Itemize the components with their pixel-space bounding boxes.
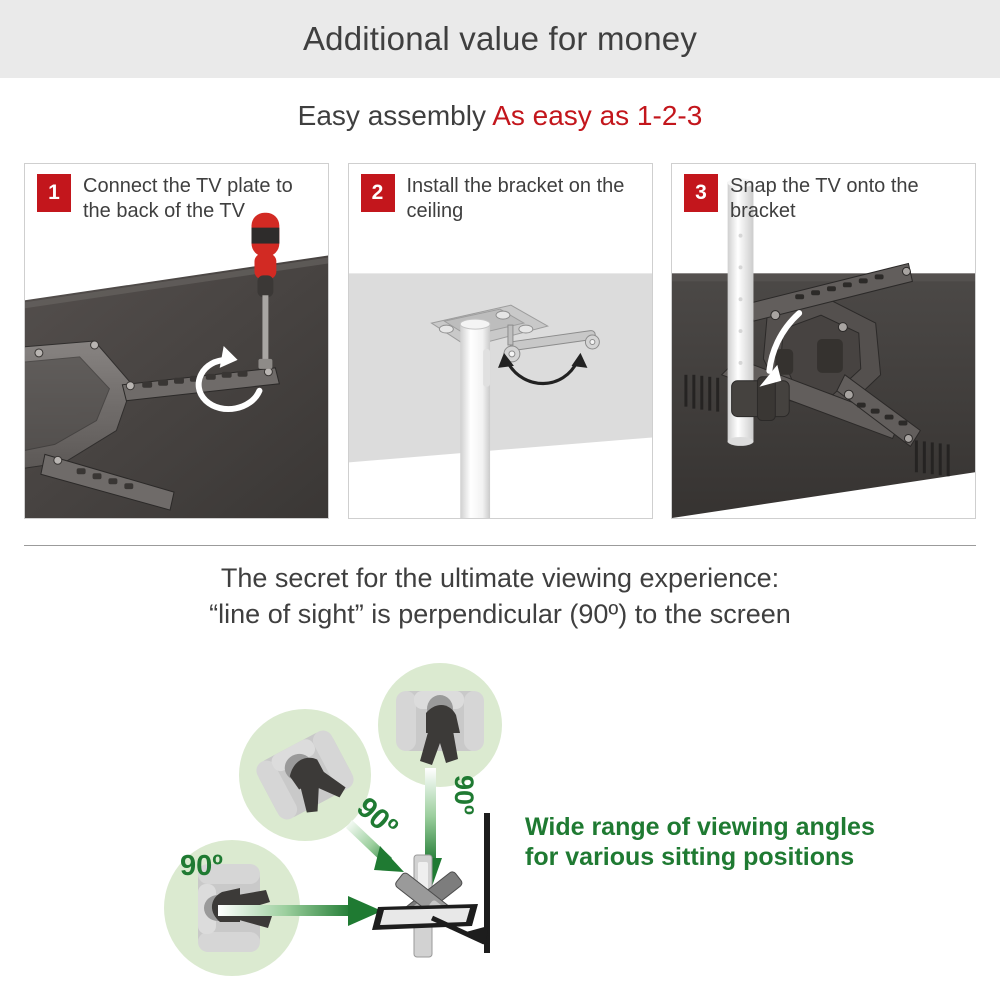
section-divider <box>24 545 976 546</box>
step-card-3: 3 Snap the TV onto the bracket <box>671 163 976 519</box>
step-2-caption: Install the bracket on the ceiling <box>407 174 642 274</box>
poster-page: Additional value for money Easy assembly… <box>0 0 1000 1000</box>
step-1-badge: 1 <box>37 174 71 212</box>
subtitle-lead: Easy assembly <box>298 100 493 131</box>
step-2-badge: 2 <box>361 174 395 212</box>
step-3-badge: 3 <box>684 174 718 212</box>
assembly-steps: 1 Connect the TV plate to the back of th… <box>24 163 976 519</box>
step-card-1: 1 Connect the TV plate to the back of th… <box>24 163 329 519</box>
header-bar: Additional value for money <box>0 0 1000 78</box>
viewing-angles-callout: Wide range of viewing angles for various… <box>525 812 945 872</box>
step-card-2: 2 Install the bracket on the ceiling <box>348 163 653 519</box>
callout-line-1: Wide range of viewing angles <box>525 812 945 842</box>
viewing-heading-line2: “line of sight” is perpendicular (90º) t… <box>0 596 1000 632</box>
subtitle: Easy assembly As easy as 1-2-3 <box>0 100 1000 132</box>
callout-line-2: for various sitting positions <box>525 842 945 872</box>
angle-label-left: 90º <box>180 850 223 882</box>
step-1-header: 1 Connect the TV plate to the back of th… <box>25 164 328 274</box>
angle-label-top: 90º <box>449 775 479 815</box>
viewing-heading-line1: The secret for the ultimate viewing expe… <box>0 560 1000 596</box>
page-title: Additional value for money <box>303 20 697 58</box>
subtitle-accent: As easy as 1-2-3 <box>492 100 702 131</box>
step-3-header: 3 Snap the TV onto the bracket <box>672 164 975 274</box>
seat-circle-top-right <box>378 663 502 787</box>
step-3-caption: Snap the TV onto the bracket <box>730 174 965 274</box>
viewing-heading: The secret for the ultimate viewing expe… <box>0 560 1000 632</box>
step-2-header: 2 Install the bracket on the ceiling <box>349 164 652 274</box>
step-1-caption: Connect the TV plate to the back of the … <box>83 174 318 274</box>
